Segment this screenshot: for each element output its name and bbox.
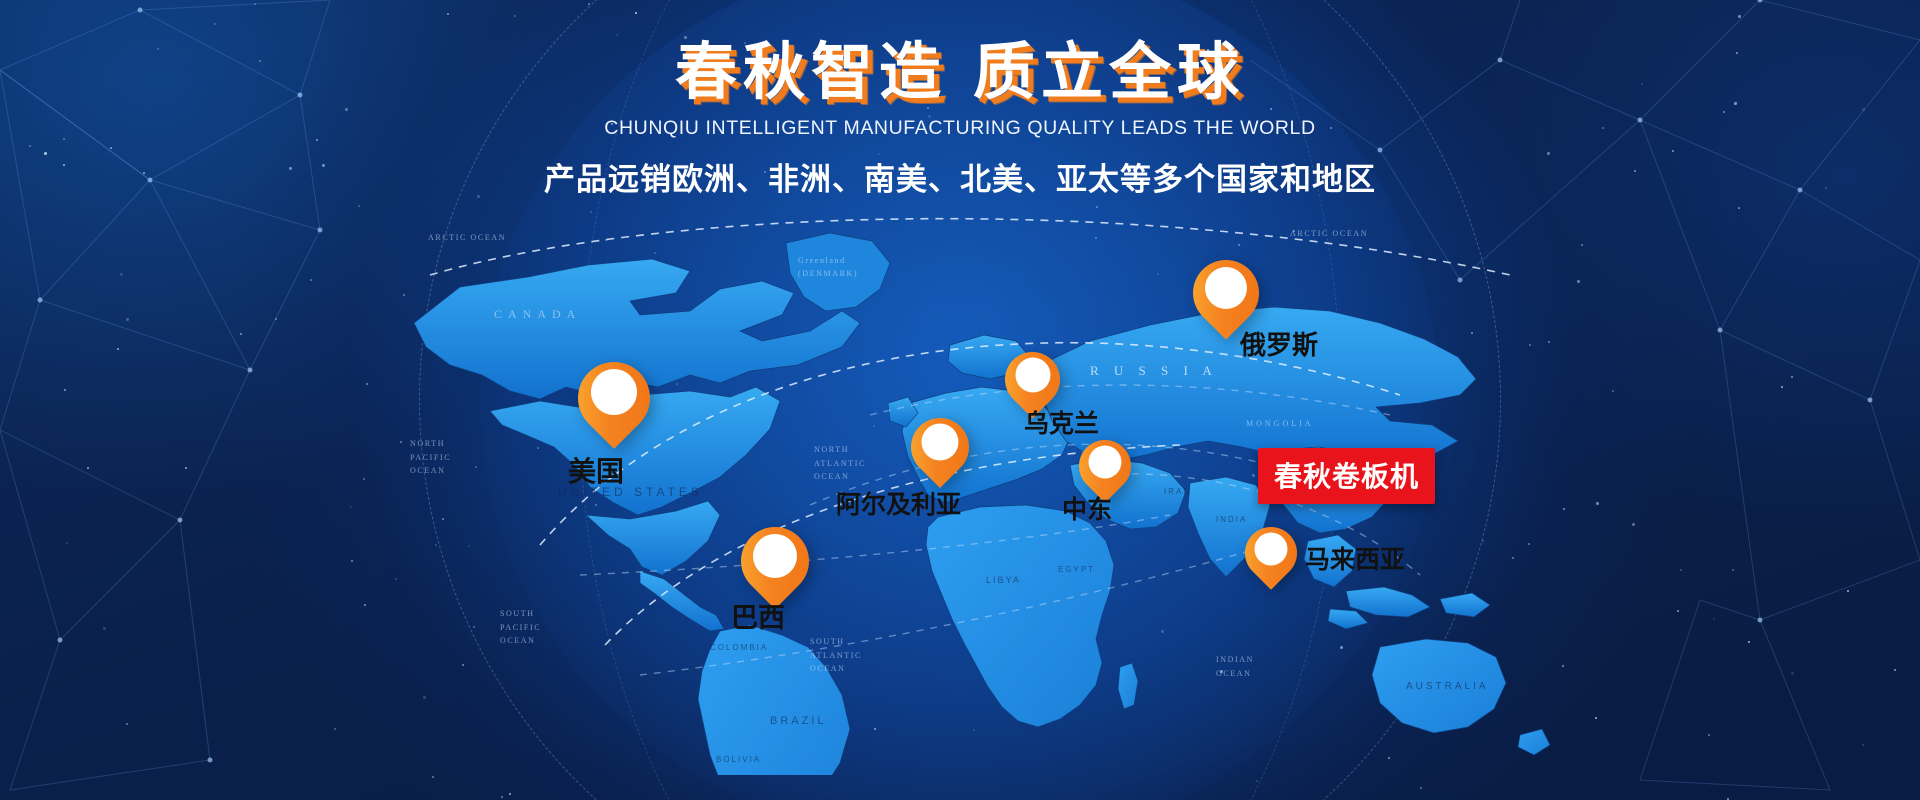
- map-pin-label-russia: 俄罗斯: [1240, 325, 1318, 362]
- map-pin-label-malaysia: 马来西亚: [1305, 540, 1405, 576]
- map-pin-label-ukraine: 乌克兰: [1024, 404, 1099, 440]
- map-pin-label-usa: 美国: [568, 450, 624, 490]
- map-pin-usa[interactable]: [578, 362, 650, 434]
- subtitle-english: CHUNQIU INTELLIGENT MANUFACTURING QUALIT…: [0, 117, 1920, 140]
- map-pin-mideast[interactable]: [1079, 440, 1131, 492]
- banner-stage: 春秋智造质立全球 CHUNQIU INTELLIGENT MANUFACTURI…: [0, 0, 1920, 800]
- page-title: 春秋智造质立全球: [0, 40, 1920, 105]
- page-title-part1: 春秋智造: [675, 38, 947, 107]
- map-pin-malaysia[interactable]: [1245, 527, 1297, 579]
- map-pin-label-mideast: 中东: [1062, 490, 1112, 526]
- map-pin-label-brazil: 巴西: [731, 596, 785, 635]
- map-pin-label-algeria: 阿尔及利亚: [836, 485, 961, 521]
- map-pin-ukraine[interactable]: [1005, 352, 1060, 407]
- map-pin-russia[interactable]: [1193, 260, 1259, 326]
- page-title-part2: 质立全球: [973, 38, 1245, 107]
- subtitle-chinese: 产品远销欧洲、非洲、南美、北美、亚太等多个国家和地区: [0, 154, 1920, 199]
- brand-tag[interactable]: 春秋卷板机: [1258, 448, 1435, 504]
- map-pin-algeria[interactable]: [911, 418, 969, 476]
- map-pin-brazil[interactable]: [741, 527, 809, 595]
- banner-header: 春秋智造质立全球 CHUNQIU INTELLIGENT MANUFACTURI…: [0, 40, 1920, 199]
